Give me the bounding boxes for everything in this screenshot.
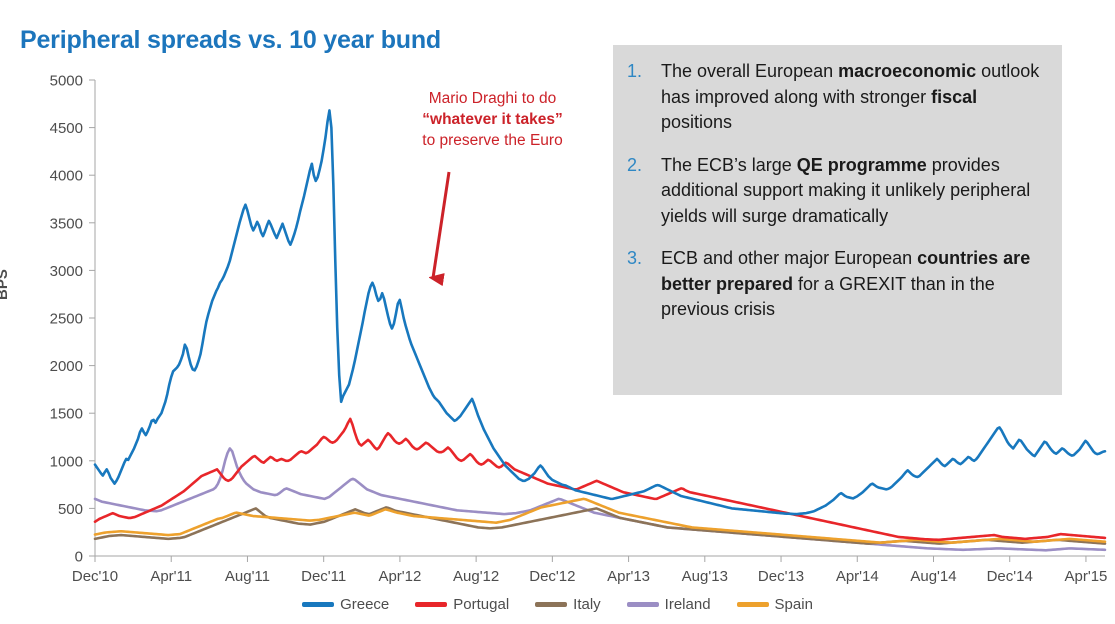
bullet-fragment: The ECB’s large — [661, 155, 797, 175]
bullet-text: The ECB’s large QE programme provides ad… — [661, 153, 1046, 230]
bullet-emphasis: macroeconomic — [838, 61, 976, 81]
legend-label: Portugal — [453, 596, 509, 613]
legend-swatch-icon — [627, 602, 659, 607]
bullet-panel: 1.The overall European macroeconomic out… — [613, 45, 1062, 395]
annotation-line-2: “whatever it takes” — [390, 109, 595, 130]
legend-swatch-icon — [302, 602, 334, 607]
legend-label: Greece — [340, 596, 389, 613]
legend-label: Ireland — [665, 596, 711, 613]
bullet-emphasis: fiscal — [931, 87, 977, 107]
legend-item-greece[interactable]: Greece — [302, 596, 389, 613]
legend-swatch-icon — [737, 602, 769, 607]
legend-label: Italy — [573, 596, 601, 613]
legend-item-spain[interactable]: Spain — [737, 596, 813, 613]
annotation-line-3: to preserve the Euro — [390, 130, 595, 151]
bullet-number: 1. — [627, 59, 661, 136]
bullet-emphasis: QE programme — [797, 155, 927, 175]
chart-legend: GreecePortugalItalyIrelandSpain — [0, 596, 1115, 613]
bullet-text: ECB and other major European countries a… — [661, 246, 1046, 323]
legend-swatch-icon — [535, 602, 567, 607]
bullet-number: 2. — [627, 153, 661, 230]
bullet-item: 2.The ECB’s large QE programme provides … — [627, 153, 1046, 230]
bullet-fragment: The overall European — [661, 61, 838, 81]
draghi-annotation: Mario Draghi to do “whatever it takes” t… — [390, 88, 595, 151]
legend-swatch-icon — [415, 602, 447, 607]
bullet-fragment: positions — [661, 112, 732, 132]
annotation-line-1: Mario Draghi to do — [390, 88, 595, 109]
legend-item-ireland[interactable]: Ireland — [627, 596, 711, 613]
bullet-text: The overall European macroeconomic outlo… — [661, 59, 1046, 136]
bullet-fragment: ECB and other major European — [661, 248, 917, 268]
legend-item-portugal[interactable]: Portugal — [415, 596, 509, 613]
bullet-item: 1.The overall European macroeconomic out… — [627, 59, 1046, 136]
bullet-number: 3. — [627, 246, 661, 323]
legend-label: Spain — [775, 596, 813, 613]
down-arrow-icon — [433, 172, 449, 278]
legend-item-italy[interactable]: Italy — [535, 596, 601, 613]
bullet-item: 3.ECB and other major European countries… — [627, 246, 1046, 323]
